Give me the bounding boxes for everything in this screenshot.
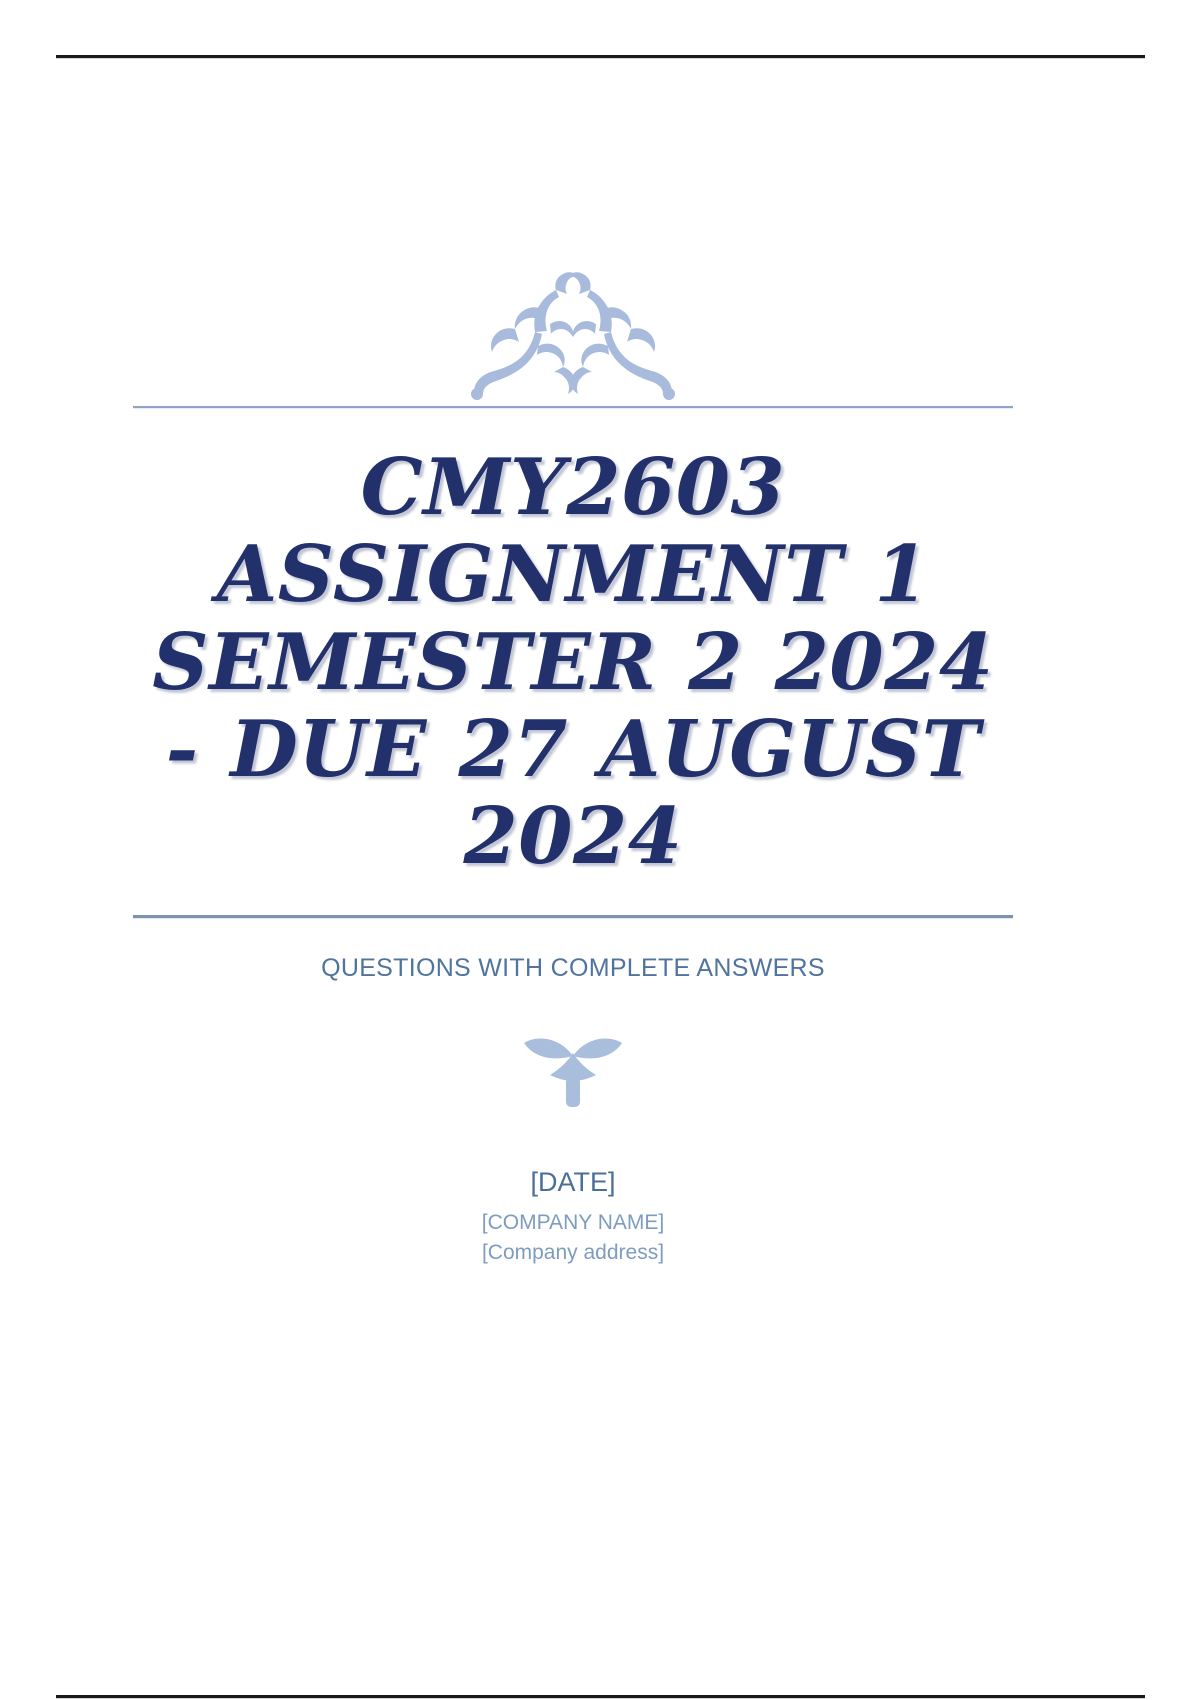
cover-page: CMY2603 ASSIGNMENT 1 SEMESTER 2 2024 - D… <box>0 0 1200 1700</box>
page-subtitle: QUESTIONS WITH COMPLETE ANSWERS <box>133 954 1013 983</box>
metadata-block: [DATE] [COMPANY NAME] [Company address] <box>133 1169 1013 1269</box>
page-border-top-rule <box>56 55 1145 58</box>
date-placeholder: [DATE] <box>133 1169 1013 1196</box>
page-border-bottom-rule <box>56 1695 1145 1698</box>
company-name-placeholder: [COMPANY NAME] <box>133 1208 1013 1238</box>
page-title: CMY2603 ASSIGNMENT 1 SEMESTER 2 2024 - D… <box>133 444 1013 881</box>
title-top-rule <box>133 406 1013 408</box>
company-address-placeholder: [Company address] <box>133 1238 1013 1268</box>
title-bottom-rule <box>133 915 1013 918</box>
cover-content-block: CMY2603 ASSIGNMENT 1 SEMESTER 2 2024 - D… <box>133 250 1013 1269</box>
floral-flourish-mirrored-ornament <box>133 250 1013 400</box>
leaf-fleuron-ornament <box>133 1017 1013 1127</box>
